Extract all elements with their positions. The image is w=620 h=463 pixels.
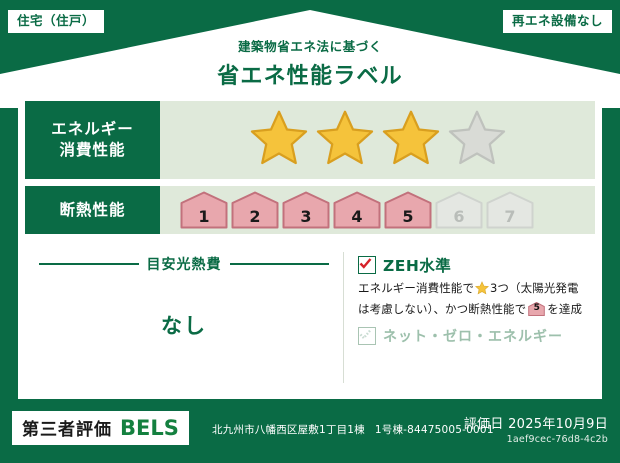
zeh-heading: ZEH水準 — [358, 254, 595, 276]
star-filled-icon — [248, 108, 310, 172]
bels-logo: 第三者評価 BELS — [12, 411, 189, 445]
insulation-level-scale: 1234567 — [160, 186, 595, 234]
utility-cost-pane: 目安光熱費 なし — [25, 246, 343, 393]
inline-chip-level: 5 — [528, 302, 545, 316]
star-filled-icon — [380, 108, 442, 172]
energy-performance-row: エネルギー 消費性能 — [25, 101, 595, 179]
zeh-desc-part1: エネルギー消費性能で — [358, 281, 474, 295]
label-header: 建築物省エネ法に基づく 省エネ性能ラベル — [0, 36, 620, 90]
insulation-chip-label: 2 — [231, 207, 279, 226]
energy-key-line1: エネルギー — [51, 119, 134, 140]
rule-line-left — [39, 263, 139, 265]
insulation-performance-row: 断熱性能 1234567 — [25, 186, 595, 234]
evaluation-date: 評価日 2025年10月9日 — [464, 413, 608, 432]
property-address-line: 北九州市八幡西区屋敷1丁目1棟1号棟-84475005-0001 — [212, 422, 494, 437]
insulation-chip-label: 1 — [180, 207, 228, 226]
zeh-desc-part3: を達成 — [547, 302, 582, 316]
check-icon — [359, 257, 372, 270]
bels-logo-jp: 第三者評価 — [22, 415, 112, 440]
zeh-description: エネルギー消費性能で3つ（太陽光発電 は考慮しない）、かつ断熱性能で5を達成 — [358, 280, 595, 319]
inline-star-icon — [475, 281, 489, 301]
rule-line-right — [230, 263, 330, 265]
energy-star-rating — [160, 101, 595, 179]
net-zero-energy-label: ネット・ゼロ・エネルギー — [383, 326, 563, 346]
record-id: 1aef9cec-76d8-4c2b — [464, 434, 608, 445]
insulation-performance-key: 断熱性能 — [25, 186, 160, 234]
net-zero-energy-row: ネット・ゼロ・エネルギー — [358, 326, 595, 346]
check-icon-faded — [359, 328, 372, 341]
tag-renewable-equipment: 再エネ設備なし — [503, 10, 612, 33]
insulation-chip-label: 6 — [435, 207, 483, 226]
energy-label-root: 住宅（住戸） 再エネ設備なし 建築物省エネ法に基づく 省エネ性能ラベル エネルギ… — [0, 0, 620, 463]
net-zero-energy-checkbox[interactable] — [358, 327, 376, 345]
utility-cost-value: なし — [25, 310, 343, 340]
zeh-pane: ZEH水準 エネルギー消費性能で3つ（太陽光発電 は考慮しない）、かつ断熱性能で… — [344, 246, 595, 393]
insulation-chip-label: 3 — [282, 207, 330, 226]
star-empty-icon — [446, 108, 508, 172]
insulation-chip-on: 2 — [231, 191, 279, 229]
insulation-chip-label: 7 — [486, 207, 534, 226]
insulation-chip-off: 7 — [486, 191, 534, 229]
tag-building-type: 住宅（住戸） — [8, 10, 104, 33]
label-footer: 第三者評価 BELS 北九州市八幡西区屋敷1丁目1棟1号棟-84475005-0… — [0, 399, 620, 463]
insulation-chip-on: 3 — [282, 191, 330, 229]
header-title: 省エネ性能ラベル — [0, 58, 620, 90]
header-subtitle: 建築物省エネ法に基づく — [0, 36, 620, 55]
property-address: 北九州市八幡西区屋敷1丁目1棟 — [212, 424, 365, 436]
insulation-chip-on: 5 — [384, 191, 432, 229]
utility-cost-heading: 目安光熱費 — [25, 246, 343, 274]
zeh-title: ZEH水準 — [383, 254, 451, 276]
star-filled-icon — [314, 108, 376, 172]
insulation-chip-on: 1 — [180, 191, 228, 229]
insulation-chip-label: 4 — [333, 207, 381, 226]
inline-insulation-chip: 5 — [528, 302, 545, 316]
detail-panes: 目安光熱費 なし ZEH水準 エネルギー消費性能で3つ（太陽光発電 — [25, 246, 595, 393]
insulation-chip-label: 5 — [384, 207, 432, 226]
utility-cost-heading-text: 目安光熱費 — [147, 254, 222, 274]
bels-logo-en: BELS — [120, 416, 179, 440]
energy-key-line2: 消費性能 — [51, 140, 134, 161]
label-card: エネルギー 消費性能 断熱性能 1234567 目安光熱費 なし — [18, 94, 602, 399]
zeh-desc-stars: 3つ（太陽光発電 — [490, 281, 579, 295]
insulation-chip-on: 4 — [333, 191, 381, 229]
evaluation-date-block: 評価日 2025年10月9日 1aef9cec-76d8-4c2b — [464, 413, 608, 445]
zeh-desc-part2: は考慮しない）、かつ断熱性能で — [358, 302, 526, 316]
energy-performance-key: エネルギー 消費性能 — [25, 101, 160, 179]
insulation-chip-off: 6 — [435, 191, 483, 229]
zeh-checkbox[interactable] — [358, 256, 376, 274]
